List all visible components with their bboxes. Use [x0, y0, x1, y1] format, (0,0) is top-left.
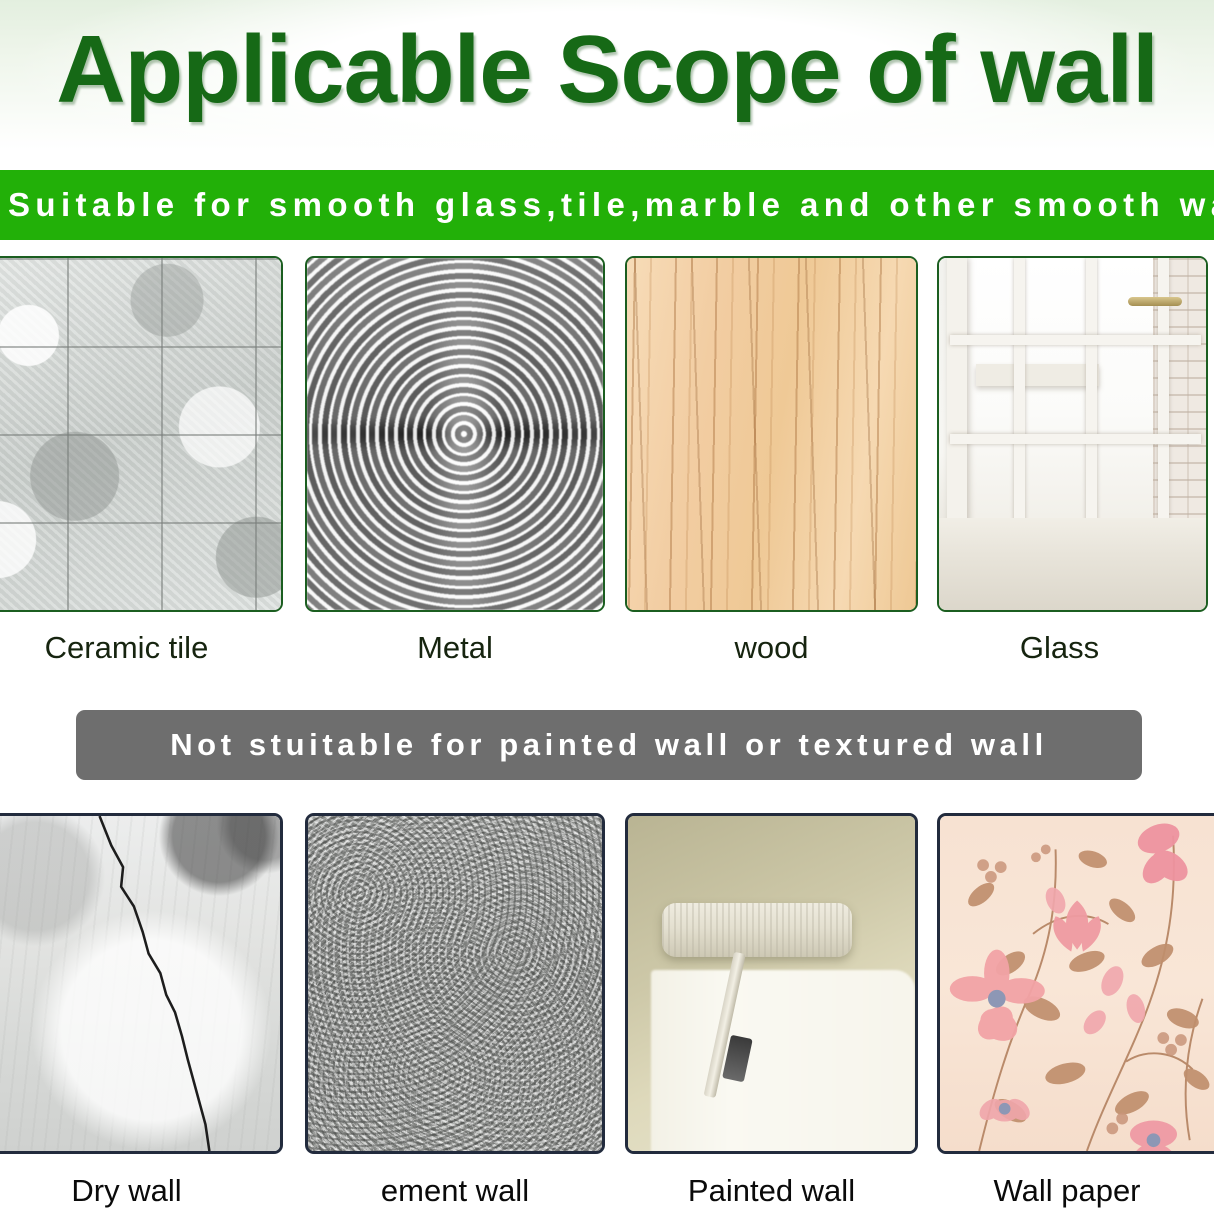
tile-label-dry-wall: Dry wall — [0, 1173, 253, 1209]
tile-label-metal: Metal — [305, 630, 605, 666]
ceramic-tile-image — [0, 256, 283, 612]
tile-label-cement-wall: ement wall — [305, 1173, 605, 1209]
not-suitable-banner: Not stuitable for painted wall or textur… — [76, 710, 1142, 780]
cracked-drywall-image — [0, 813, 283, 1154]
title-band: Applicable Scope of wall — [0, 0, 1214, 170]
tile-label-glass: Glass — [937, 630, 1182, 666]
tile-label-wall-paper: Wall paper — [937, 1173, 1197, 1209]
crack-icon — [0, 816, 280, 1151]
wood-grain-image — [625, 256, 918, 612]
page-title: Applicable Scope of wall — [0, 0, 1214, 140]
suitable-tile-row: Ceramic tile Metal wood — [0, 256, 1214, 676]
tile-label-painted-wall: Painted wall — [625, 1173, 918, 1209]
not-suitable-tile-row: Dry wall ement wall Painted wall — [0, 813, 1214, 1214]
glass-window-image — [937, 256, 1208, 612]
not-suitable-banner-text: Not stuitable for painted wall or textur… — [76, 710, 1142, 780]
tile-label-ceramic-tile: Ceramic tile — [0, 630, 253, 666]
floral-wallpaper-image — [937, 813, 1214, 1154]
not-suitable-banner-wrap: Not stuitable for painted wall or textur… — [0, 704, 1214, 789]
suitable-banner: Suitable for smooth glass,tile,marble an… — [0, 170, 1214, 240]
paint-roller-image — [625, 813, 918, 1154]
suitable-banner-text: Suitable for smooth glass,tile,marble an… — [8, 170, 1214, 240]
floral-pattern-icon — [940, 816, 1214, 1151]
cement-wall-image — [305, 813, 605, 1154]
tile-label-wood: wood — [625, 630, 918, 666]
brushed-metal-image — [305, 256, 605, 612]
